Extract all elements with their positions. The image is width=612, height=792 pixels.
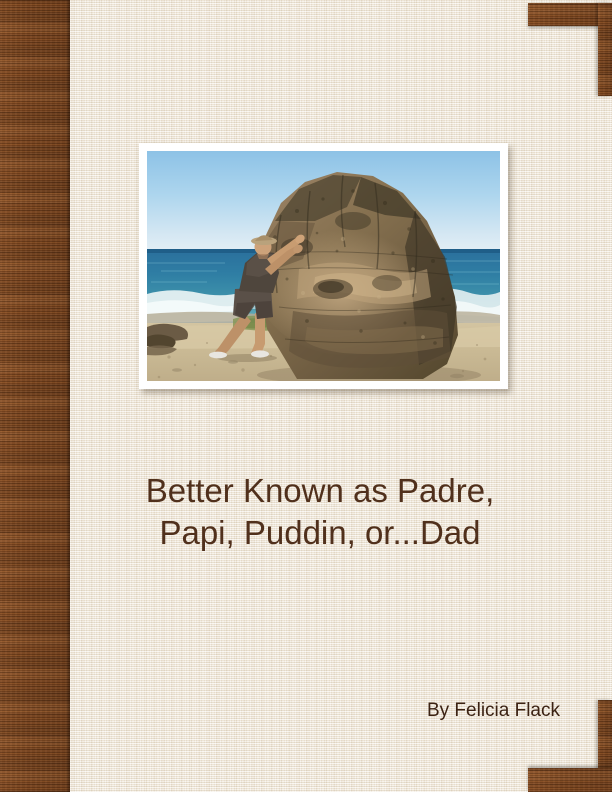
cover-photo-frame — [139, 143, 508, 389]
wood-spine-band — [0, 0, 70, 792]
book-author: By Felicia Flack — [70, 699, 560, 723]
wood-corner-top-right-vertical — [598, 3, 612, 96]
paper-background — [0, 0, 612, 792]
book-title: Better Known as Padre, Papi, Puddin, or.… — [70, 470, 570, 554]
wood-corner-bottom-right-horizontal — [528, 768, 612, 792]
book-cover: Better Known as Padre, Papi, Puddin, or.… — [0, 0, 612, 792]
cover-photo — [147, 151, 500, 381]
